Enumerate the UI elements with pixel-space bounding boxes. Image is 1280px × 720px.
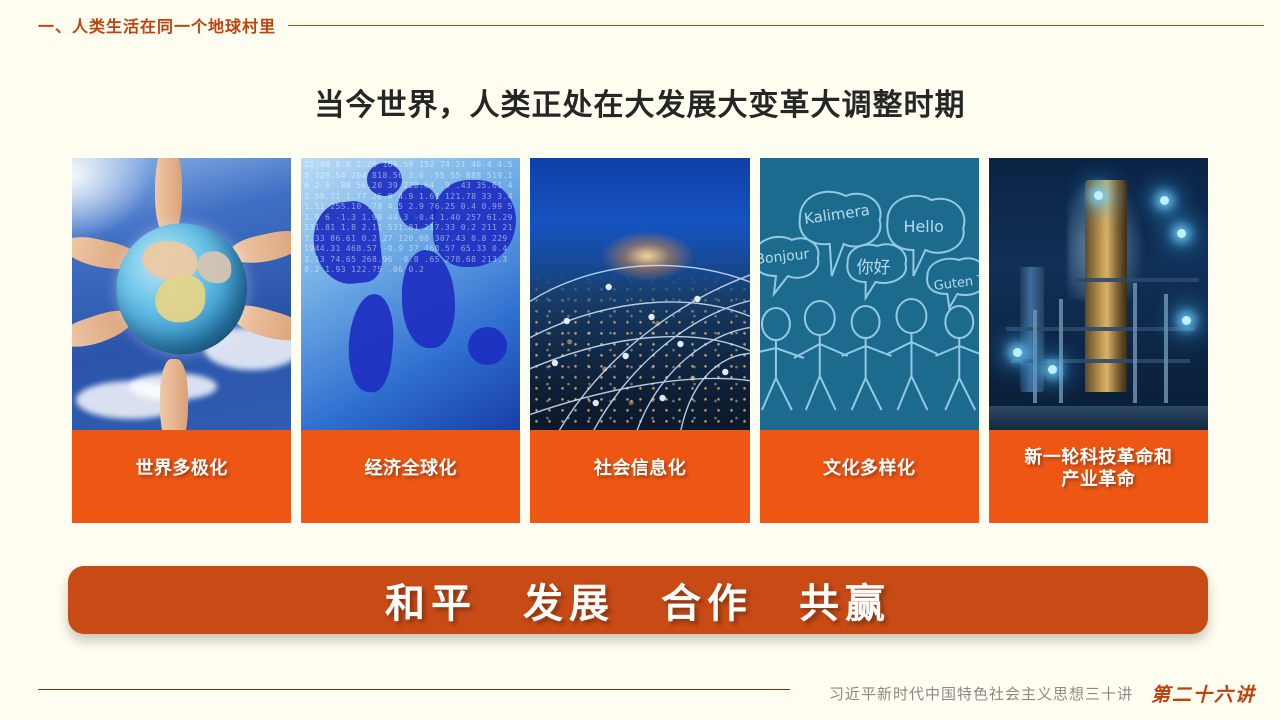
night-city-network-photo bbox=[530, 158, 749, 430]
footer-series-title: 习近平新时代中国特色社会主义思想三十讲 bbox=[829, 683, 1133, 704]
card-label: 世界多极化 bbox=[135, 458, 228, 480]
bubble-text-bonjour: Bonjour bbox=[760, 246, 810, 268]
chalk-drawing-icon: Kalimera Hello Bonjour 你好 Guten Tag bbox=[760, 158, 979, 430]
floodlight-icon bbox=[1160, 196, 1169, 205]
footer-lecture-number: 第二十六讲 bbox=[1151, 680, 1256, 707]
slide-footer: 习近平新时代中国特色社会主义思想三十讲 第二十六讲 bbox=[0, 676, 1280, 710]
blue-world-map-financial-numbers-photo: 22.48 0.0 2.26 166.59 152 74.21 40.4 4.5… bbox=[301, 158, 520, 430]
hand-shape bbox=[160, 359, 188, 430]
slogan-banner: 和平 发展 合作 共赢 bbox=[68, 566, 1208, 634]
page-title: 当今世界，人类正处在大发展大变革大调整时期 bbox=[0, 80, 1280, 124]
floodlight-icon bbox=[1177, 229, 1186, 238]
floodlight-icon bbox=[1182, 316, 1191, 325]
globe-icon bbox=[116, 223, 248, 355]
pipe-shape bbox=[1059, 299, 1063, 402]
slide-header: 一、人类生活在同一个地球村里 bbox=[0, 12, 1280, 38]
card-caption: 经济全球化 bbox=[301, 430, 520, 523]
card-caption: 世界多极化 bbox=[72, 430, 291, 523]
card-world-multipolarization[interactable]: 世界多极化 bbox=[72, 158, 291, 523]
platform-shape bbox=[1076, 278, 1199, 282]
floodlight-icon bbox=[1094, 191, 1103, 200]
card-new-tech-revolution[interactable]: 新一轮科技革命和 产业革命 bbox=[989, 158, 1208, 523]
industrial-refinery-night-photo bbox=[989, 158, 1208, 430]
landmass-shape bbox=[197, 252, 231, 284]
pipe-shape bbox=[1164, 294, 1168, 403]
header-divider bbox=[288, 25, 1264, 26]
card-caption: 文化多样化 bbox=[760, 430, 979, 523]
pipe-shape bbox=[1033, 310, 1037, 402]
landmass-shape bbox=[142, 241, 197, 280]
financial-numbers-overlay: 22.48 0.0 2.26 166.59 152 74.21 40.4 4.5… bbox=[301, 158, 520, 430]
card-caption: 新一轮科技革命和 产业革命 bbox=[989, 430, 1208, 523]
card-cultural-diversity[interactable]: Kalimera Hello Bonjour 你好 Guten Tag 文化多样… bbox=[760, 158, 979, 523]
network-lines-icon bbox=[530, 158, 749, 430]
chalk-stick-figures-greetings-photo: Kalimera Hello Bonjour 你好 Guten Tag bbox=[760, 158, 979, 430]
card-grid: 世界多极化 22.48 0.0 2.26 166.59 152 74.21 40… bbox=[72, 158, 1208, 523]
floodlight-icon bbox=[1048, 365, 1057, 374]
sun-glare bbox=[72, 158, 153, 240]
card-economic-globalization[interactable]: 22.48 0.0 2.26 166.59 152 74.21 40.4 4.5… bbox=[301, 158, 520, 523]
card-label: 社会信息化 bbox=[594, 458, 687, 480]
bubble-text-kalimera: Kalimera bbox=[803, 201, 871, 228]
slogan-text: 和平 发展 合作 共赢 bbox=[385, 571, 891, 629]
bubble-text-gutentag: Guten Tag bbox=[933, 271, 979, 294]
bubble-text-hello: Hello bbox=[903, 217, 943, 236]
hands-holding-globe-photo bbox=[72, 158, 291, 430]
card-social-informatization[interactable]: 社会信息化 bbox=[530, 158, 749, 523]
landmass-shape bbox=[155, 275, 205, 322]
card-caption: 社会信息化 bbox=[530, 430, 749, 523]
bubble-text-nihao: 你好 bbox=[856, 257, 890, 277]
card-label: 新一轮科技革命和 产业革命 bbox=[1024, 447, 1172, 491]
card-label: 经济全球化 bbox=[365, 458, 458, 480]
ground-shape bbox=[989, 406, 1208, 430]
section-heading: 一、人类生活在同一个地球村里 bbox=[38, 13, 276, 37]
pipe-shape bbox=[1133, 283, 1137, 403]
card-label: 文化多样化 bbox=[823, 458, 916, 480]
